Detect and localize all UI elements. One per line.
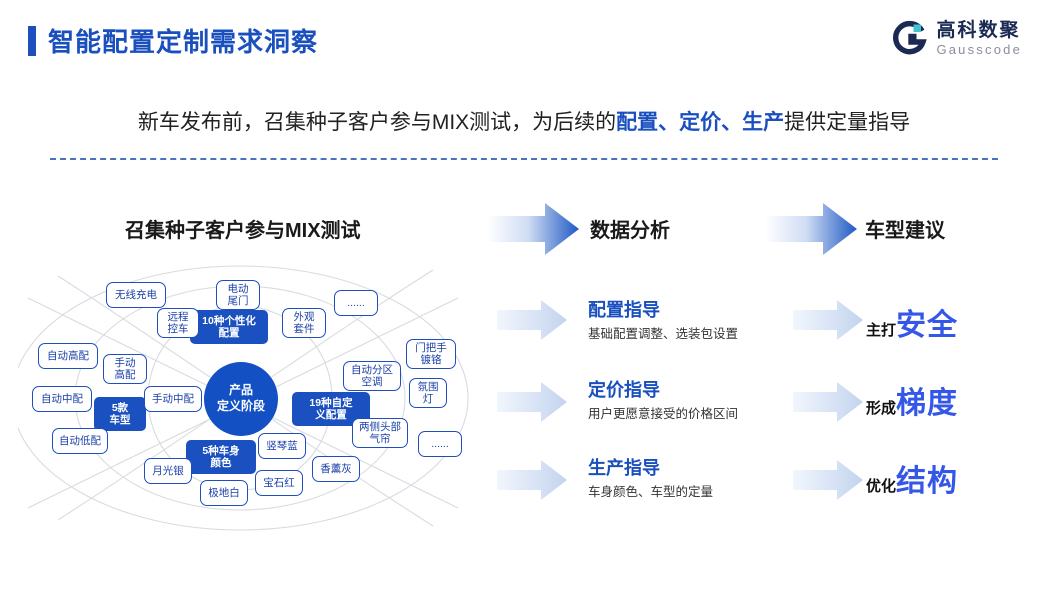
diagram-node-color-incense-gray: 香薰灰 xyxy=(312,456,360,482)
section-divider xyxy=(50,158,998,160)
gausscode-g-logo xyxy=(892,20,928,56)
column-header-mix-test: 召集种子客户参与MIX测试 xyxy=(125,214,361,243)
row-arrow-structure-icon xyxy=(793,460,863,500)
row-arrow-gradient-icon xyxy=(793,382,863,422)
product-definition-diagram: 产品 定义阶段 10种个性化 配置 5款 车型 19种自定 义配置 5种车身 颜… xyxy=(18,258,498,538)
diagram-node-auto-low-trim: 自动低配 xyxy=(52,428,108,454)
analysis-subtitle: 基础配置调整、选装包设置 xyxy=(588,327,738,342)
diagram-node-manual-mid-trim: 手动中配 xyxy=(144,386,202,412)
diagram-node-ellipsis-1: ...... xyxy=(334,290,378,316)
diagram-node-power-tailgate: 电动 尾门 xyxy=(216,280,260,310)
slide-root: 智能配置定制需求洞察 高科数聚 Gausscode 新车发布前，召集种子客户参与… xyxy=(0,0,1048,589)
analysis-item-pricing: 定价指导 用户更愿意接受的价格区间 xyxy=(588,380,738,422)
analysis-item-production: 生产指导 车身颜色、车型的定量 xyxy=(588,458,713,500)
diagram-node-wireless-charging: 无线充电 xyxy=(106,282,166,308)
diagram-node-manual-high-trim: 手动 高配 xyxy=(103,354,147,384)
diagram-node-color-ruby-red: 宝石红 xyxy=(255,470,303,496)
suggestion-item-safety: 主打 安全 xyxy=(866,300,958,344)
brand-logo: 高科数聚 Gausscode xyxy=(892,20,1022,56)
column-header-model-suggestion: 车型建议 xyxy=(865,214,945,243)
suggestion-prefix: 形成 xyxy=(866,397,896,418)
diagram-group-models: 5款 车型 xyxy=(94,397,146,431)
suggestion-prefix: 主打 xyxy=(866,319,896,340)
diagram-node-auto-dual-zone-ac: 自动分区 空调 xyxy=(343,361,401,391)
suggestion-keyword: 安全 xyxy=(896,300,958,344)
row-arrow-safety-icon xyxy=(793,300,863,340)
logo-text: 高科数聚 Gausscode xyxy=(936,21,1022,56)
suggestion-prefix: 优化 xyxy=(866,475,896,496)
subtitle-part2: 提供定量指导 xyxy=(784,111,910,134)
analysis-title: 配置指导 xyxy=(588,300,738,322)
suggestion-keyword: 梯度 xyxy=(896,378,958,422)
subtitle-part1: 新车发布前，召集种子客户参与MIX测试，为后续的 xyxy=(138,111,616,134)
suggestion-item-structure: 优化 结构 xyxy=(866,456,958,500)
subtitle-highlight: 配置、定价、生产 xyxy=(616,111,784,134)
logo-name-cn: 高科数聚 xyxy=(936,21,1022,40)
diagram-node-color-moonlight-silver: 月光银 xyxy=(144,458,192,484)
analysis-subtitle: 车身颜色、车型的定量 xyxy=(588,485,713,500)
subtitle: 新车发布前，召集种子客户参与MIX测试，为后续的配置、定价、生产提供定量指导 xyxy=(0,106,1048,136)
diagram-node-ambient-light: 氛围 灯 xyxy=(409,378,447,408)
title-accent-bar xyxy=(28,26,36,56)
diagram-node-color-polar-white: 极地白 xyxy=(200,480,248,506)
diagram-node-color-harp-blue: 竖琴蓝 xyxy=(258,433,306,459)
diagram-group-body-colors: 5种车身 颜色 xyxy=(186,440,256,474)
diagram-node-auto-high-trim: 自动高配 xyxy=(38,343,98,369)
diagram-group-personalized-config: 10种个性化 配置 xyxy=(190,310,268,344)
row-arrow-config-icon xyxy=(497,300,567,340)
diagram-node-remote-control: 远程 控车 xyxy=(157,308,199,338)
page-title-text: 智能配置定制需求洞察 xyxy=(48,22,318,59)
page-title: 智能配置定制需求洞察 xyxy=(28,22,318,59)
diagram-node-side-curtain-airbag: 两侧头部 气帘 xyxy=(352,418,408,448)
suggestion-keyword: 结构 xyxy=(896,456,958,500)
row-arrow-production-icon xyxy=(497,460,567,500)
flow-arrow-1-icon xyxy=(487,203,579,255)
diagram-center-node: 产品 定义阶段 xyxy=(204,362,278,436)
row-arrow-pricing-icon xyxy=(497,382,567,422)
logo-name-en: Gausscode xyxy=(936,43,1022,56)
flow-arrow-2-icon xyxy=(765,203,857,255)
diagram-node-auto-mid-trim: 自动中配 xyxy=(32,386,92,412)
diagram-node-chrome-door-handle: 门把手 镀铬 xyxy=(406,339,456,369)
analysis-subtitle: 用户更愿意接受的价格区间 xyxy=(588,407,738,422)
diagram-node-exterior-kit: 外观 套件 xyxy=(282,308,326,338)
analysis-title: 生产指导 xyxy=(588,458,713,480)
diagram-node-ellipsis-2: ...... xyxy=(418,431,462,457)
suggestion-item-gradient: 形成 梯度 xyxy=(866,378,958,422)
column-header-data-analysis: 数据分析 xyxy=(590,214,670,243)
analysis-title: 定价指导 xyxy=(588,380,738,402)
analysis-item-config: 配置指导 基础配置调整、选装包设置 xyxy=(588,300,738,342)
